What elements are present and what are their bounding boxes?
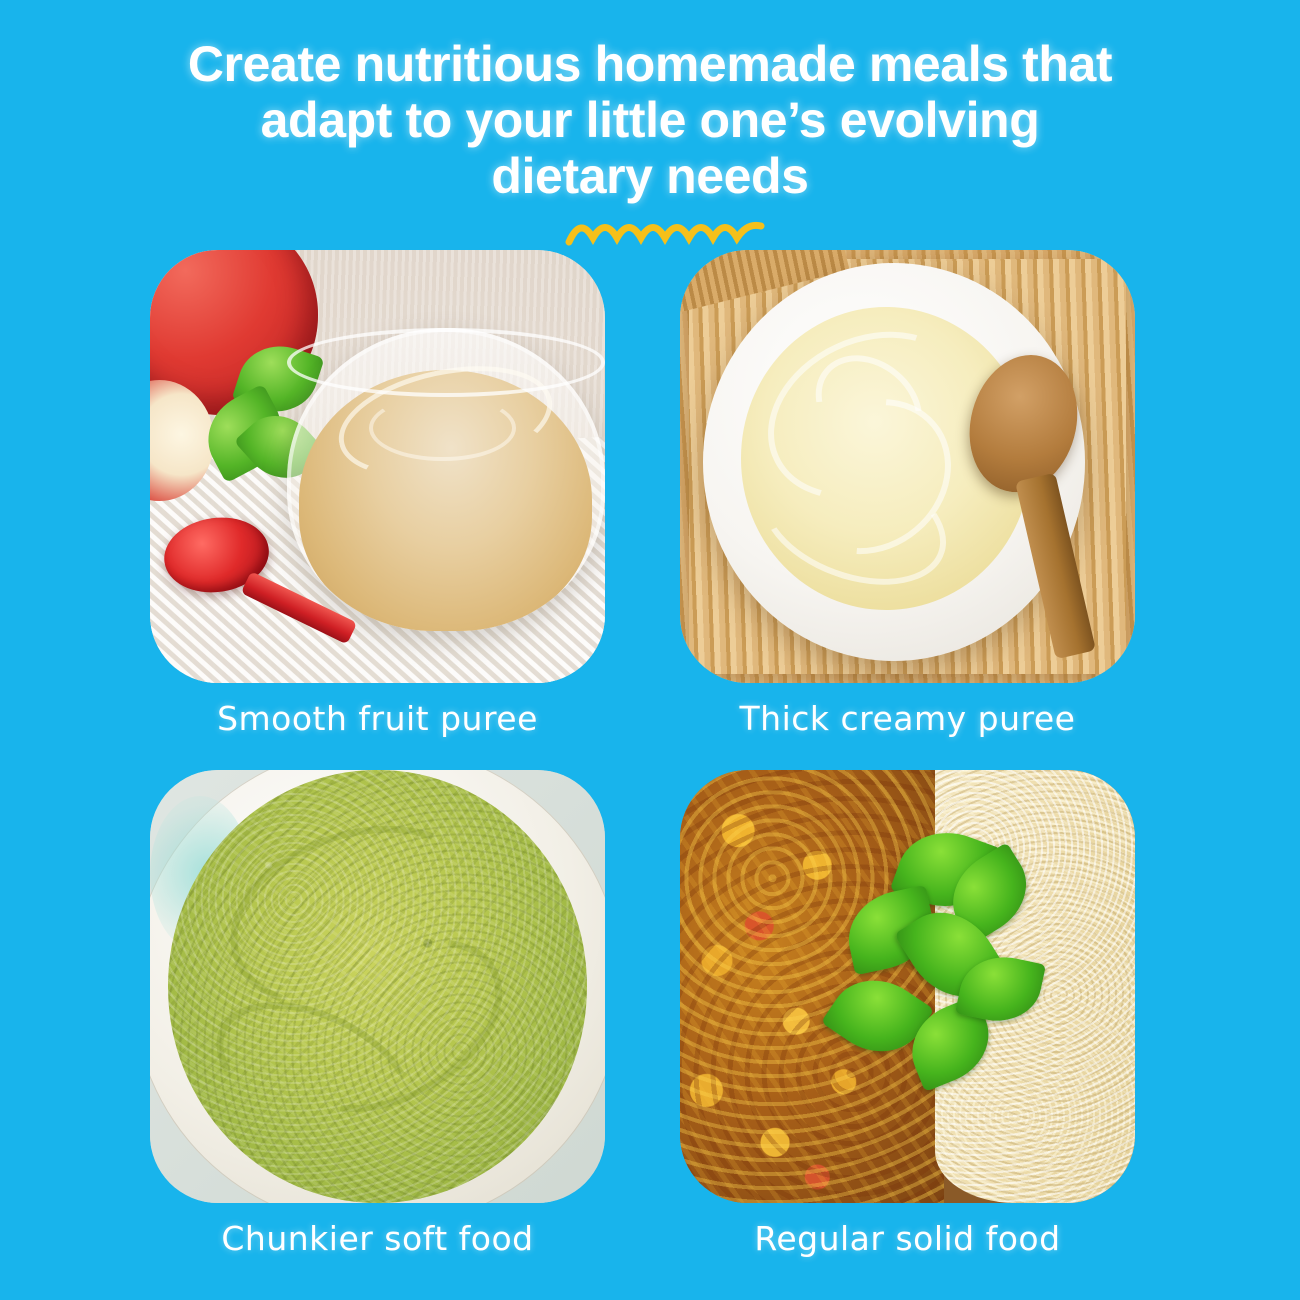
- apple-puree-glass-bowl-photo: [150, 250, 605, 683]
- food-stage-card-smooth-fruit-puree[interactable]: Smooth fruit puree: [150, 250, 605, 739]
- page-title-line-1: Create nutritious homemade meals that: [95, 36, 1205, 92]
- green-chunky-mash-ramekin-photo: [150, 770, 605, 1203]
- page-title-line-2: adapt to your little one’s evolving: [95, 92, 1205, 148]
- chickpea-curry-couscous-photo: [680, 770, 1135, 1203]
- page-title: Create nutritious homemade meals that ad…: [0, 36, 1300, 204]
- squiggle-underline-icon: [565, 212, 765, 252]
- food-stage-card-chunkier-soft-food[interactable]: Chunkier soft food: [150, 770, 605, 1259]
- card-caption: Thick creamy puree: [680, 699, 1135, 739]
- creamy-mash-white-bowl-photo: [680, 250, 1135, 683]
- food-stage-grid: Smooth fruit puree Thick creamy puree: [150, 250, 1135, 1270]
- card-caption: Smooth fruit puree: [150, 699, 605, 739]
- food-stage-card-regular-solid-food[interactable]: Regular solid food: [680, 770, 1135, 1259]
- food-stage-card-thick-creamy-puree[interactable]: Thick creamy puree: [680, 250, 1135, 739]
- page-title-line-3: dietary needs: [95, 148, 1205, 204]
- card-caption: Regular solid food: [680, 1219, 1135, 1259]
- coriander-garnish-icon: [826, 831, 1044, 1117]
- card-caption: Chunkier soft food: [150, 1219, 605, 1259]
- green-mash-icon: [168, 770, 587, 1203]
